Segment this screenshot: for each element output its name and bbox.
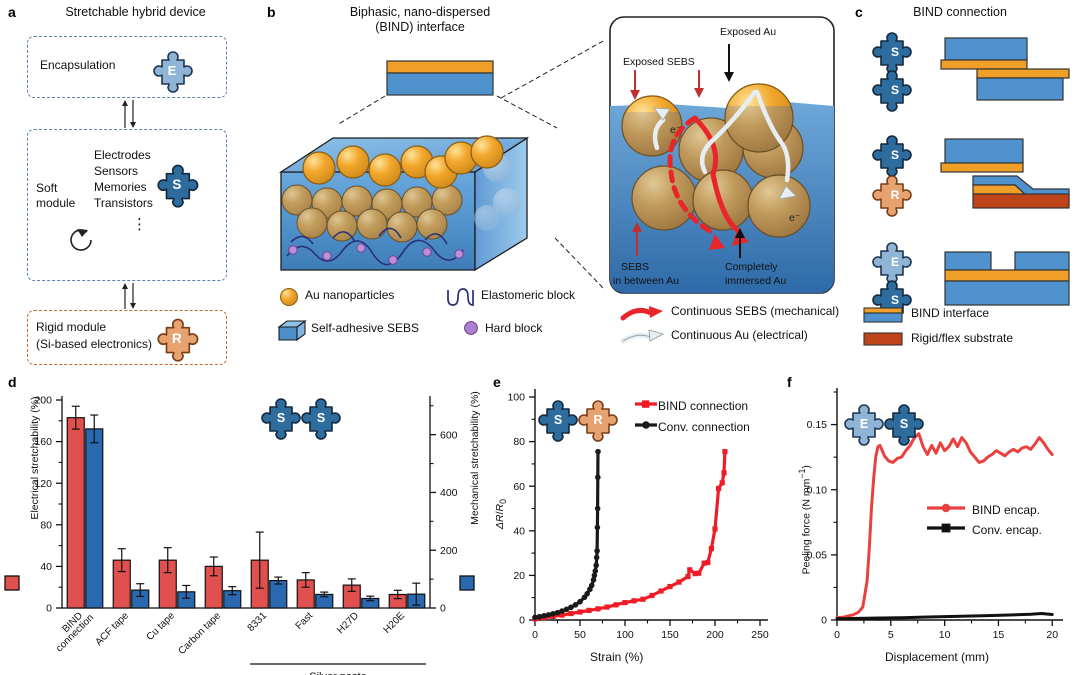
svg-text:0: 0 [821, 615, 827, 627]
svg-text:100: 100 [507, 392, 525, 404]
svg-text:Silver paste: Silver paste [309, 671, 366, 675]
panel-c-title: BIND connection [875, 5, 1045, 20]
purple-dot-icon [463, 320, 479, 336]
soft-item-transistors: Transistors [94, 196, 153, 210]
soft-item-memories: Memories [94, 180, 147, 194]
panel-c-legend-label-substrate: Rigid/flex substrate [911, 331, 1013, 345]
rigid-module-label-1: Rigid module [36, 320, 106, 334]
panel-c-legend-bind-swatch [863, 305, 903, 325]
white-arrow-icon [621, 327, 667, 347]
panel-d-chart: 040801201602000200400600BINDconnectionAC… [0, 372, 485, 675]
electron-label-2: e⁻ [789, 212, 800, 224]
panel-f-badge-es: E S [841, 398, 937, 448]
arrow-enc-soft [120, 99, 140, 129]
legend-label-sebs: Self-adhesive SEBS [311, 321, 419, 335]
svg-text:E: E [891, 255, 899, 269]
panel-b: b Biphasic, nano-dispersed (BIND) interf… [265, 0, 845, 372]
svg-text:0.15: 0.15 [807, 419, 828, 431]
panel-f-xlabel: Displacement (mm) [885, 650, 989, 664]
svg-text:8331: 8331 [246, 610, 270, 634]
panel-e-xlabel: Strain (%) [590, 650, 643, 664]
svg-text:ACF tape: ACF tape [93, 610, 131, 648]
panel-f-ylabel: Peeling force (N mm−1) [796, 445, 812, 595]
panel-e-legend-label-1: Conv. connection [658, 420, 750, 434]
svg-text:Fast: Fast [294, 610, 316, 632]
svg-text:20: 20 [1046, 629, 1058, 641]
svg-text:R: R [172, 331, 182, 346]
arrow-legend-label-sebs: Continuous SEBS (mechanical) [671, 304, 839, 318]
panel-e-legend-label-0: BIND connection [658, 399, 748, 413]
bind-connection-row-1: S S [869, 28, 1079, 118]
svg-text:80: 80 [40, 519, 52, 531]
svg-text:Carbon tape: Carbon tape [176, 610, 223, 657]
legend-label-au: Au nanoparticles [305, 288, 394, 302]
soft-module-label-2: module [36, 196, 75, 210]
svg-text:S: S [891, 83, 899, 97]
svg-text:0: 0 [519, 615, 525, 627]
electron-label-1: e⁻ [670, 124, 681, 136]
svg-text:S: S [900, 417, 908, 431]
svg-text:20: 20 [513, 570, 525, 582]
sebs-3d-block-illustration [275, 110, 575, 285]
svg-text:400: 400 [440, 487, 458, 499]
svg-text:200: 200 [706, 629, 724, 641]
panel-a: a Stretchable hybrid device Encapsulatio… [0, 0, 265, 372]
panel-c-letter: c [855, 4, 863, 20]
panel-a-letter: a [8, 4, 16, 20]
panel-d-legend-swatch-right [459, 575, 475, 591]
svg-text:S: S [554, 413, 562, 427]
panel-c-legend-label-bind: BIND interface [911, 306, 989, 320]
recycle-loop-icon [66, 224, 98, 254]
panel-e: e 020406080100050100150200250 S R BIND c… [485, 372, 775, 675]
sebs-cube-icon [277, 317, 307, 343]
panel-d-ylabel-left: Electrical stretchability (%) [29, 373, 41, 543]
arrow-legend-label-au: Continuous Au (electrical) [671, 328, 808, 342]
svg-text:R: R [593, 413, 602, 427]
gold-sphere-icon [279, 287, 299, 307]
panel-f-legend-label-1: Conv. encap. [972, 523, 1042, 537]
panel-d: d 040801201602000200400600BINDconnection… [0, 372, 485, 675]
panel-e-ylabel: ΔR/R0 [494, 484, 508, 544]
puzzle-piece-S-soft: S [152, 158, 210, 208]
svg-text:E: E [168, 63, 177, 78]
svg-text:0: 0 [440, 603, 446, 615]
svg-text:S: S [317, 411, 325, 425]
rigid-module-label-2: (Si-based electronics) [36, 337, 152, 351]
legend-label-hardblock: Hard block [485, 321, 542, 335]
svg-text:H20E: H20E [382, 610, 408, 636]
svg-text:0: 0 [834, 629, 840, 641]
svg-text:0: 0 [46, 603, 52, 615]
svg-text:60: 60 [513, 481, 525, 493]
svg-text:15: 15 [993, 629, 1005, 641]
svg-text:R: R [891, 188, 900, 202]
svg-text:S: S [277, 411, 285, 425]
panel-e-badge-sr: S R [535, 394, 631, 444]
svg-text:5: 5 [888, 629, 894, 641]
svg-text:40: 40 [40, 561, 52, 573]
panel-c-legend-substrate-swatch [863, 330, 903, 348]
svg-text:80: 80 [513, 436, 525, 448]
svg-text:40: 40 [513, 525, 525, 537]
svg-text:H27D: H27D [335, 610, 361, 636]
soft-module-label-1: Soft [36, 181, 57, 195]
soft-item-sensors: Sensors [94, 164, 138, 178]
svg-text:S: S [172, 177, 181, 192]
red-arrow-icon [621, 303, 667, 323]
puzzle-piece-R: R [152, 312, 210, 362]
inset-arrows [607, 14, 837, 296]
panel-d-ylabel-right: Mechanical stretchability (%) [469, 368, 481, 548]
panel-f-legend-label-0: BIND encap. [972, 503, 1040, 517]
svg-text:10: 10 [939, 629, 951, 641]
puzzle-piece-E: E [148, 45, 204, 93]
encapsulation-label: Encapsulation [40, 58, 115, 72]
svg-text:0: 0 [532, 629, 538, 641]
svg-text:600: 600 [440, 429, 458, 441]
svg-text:100: 100 [616, 629, 634, 641]
svg-text:250: 250 [751, 629, 769, 641]
soft-items-ellipsis: ⋮ [132, 215, 148, 233]
arrow-soft-rigid [120, 282, 140, 310]
legend-label-elastomeric: Elastomeric block [481, 288, 575, 302]
panel-a-title: Stretchable hybrid device [28, 5, 243, 20]
svg-text:150: 150 [661, 629, 679, 641]
soft-item-electrodes: Electrodes [94, 148, 151, 162]
svg-text:200: 200 [440, 545, 458, 557]
svg-text:S: S [891, 45, 899, 59]
panel-d-badge-ss: S S [258, 392, 354, 442]
svg-text:S: S [891, 148, 899, 162]
bind-connection-row-2: S R [869, 131, 1079, 227]
panel-d-legend-swatch-left [4, 575, 20, 591]
svg-text:50: 50 [574, 629, 586, 641]
panel-f-ylabel-text: Peeling force (N mm−1) [800, 465, 812, 574]
svg-text:Cu tape: Cu tape [145, 610, 178, 643]
zigzag-chain-icon [445, 286, 479, 308]
panel-f: f 00.050.100.1505101520 E S BIND encap. … [775, 372, 1080, 675]
panel-e-ylabel-text: ΔR/R0 [494, 499, 506, 529]
panel-c: c BIND connection S S S R [845, 0, 1080, 372]
svg-text:E: E [860, 417, 868, 431]
